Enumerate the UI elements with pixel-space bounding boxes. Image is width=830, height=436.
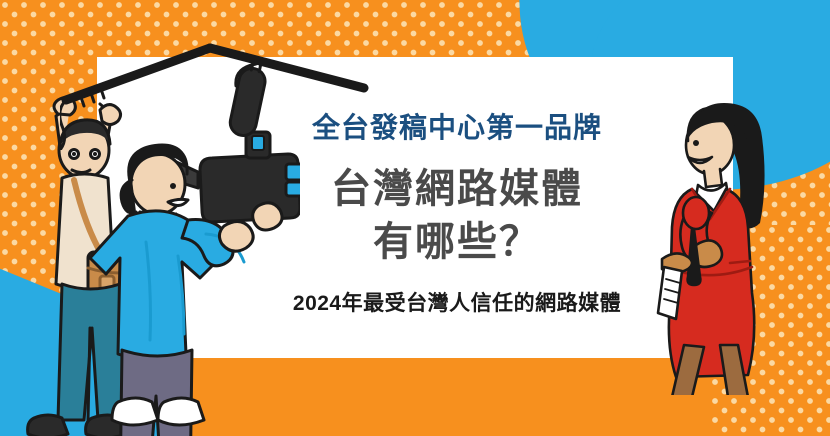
eyebrow-text: 全台發稿中心第一品牌 <box>232 112 682 144</box>
title-line-2: 有哪些？ <box>232 219 682 266</box>
poster-canvas: 全台發稿中心第一品牌 台灣網路媒體 有哪些？ 2024年最受台灣人信任的網路媒體 <box>0 0 830 436</box>
subtitle-text: 2024年最受台灣人信任的網路媒體 <box>232 287 682 317</box>
headline-text-block: 全台發稿中心第一品牌 台灣網路媒體 有哪些？ 2024年最受台灣人信任的網路媒體 <box>232 112 682 317</box>
title-line-1: 台灣網路媒體 <box>232 166 682 213</box>
